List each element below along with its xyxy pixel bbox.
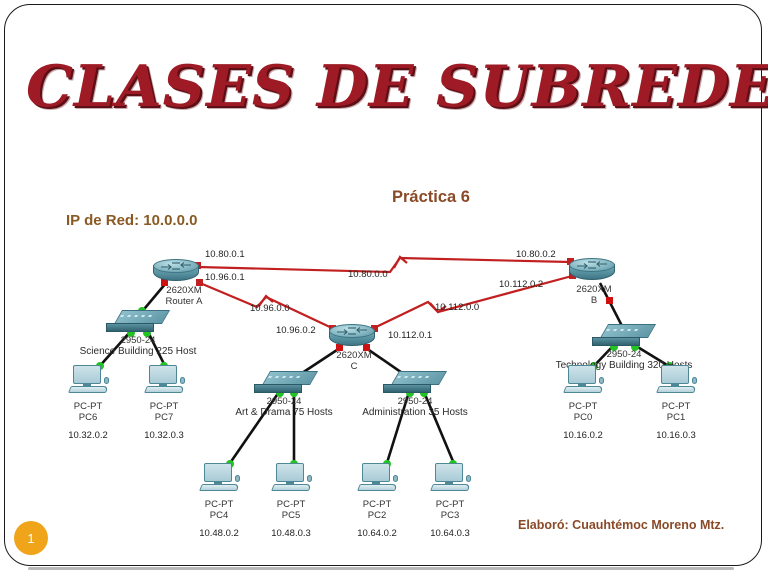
router-arrows-icon	[574, 260, 610, 270]
pc-icon	[563, 365, 603, 399]
switch-technology-model: 2950-24	[607, 349, 642, 360]
pc6-name: PC6	[79, 412, 97, 423]
pc1-name: PC1	[667, 412, 685, 423]
pc0-ip: 10.16.0.2	[563, 430, 603, 441]
pc5-model: PC-PT	[277, 499, 306, 510]
router-b-name: B	[591, 295, 597, 306]
switch-admin-site: Administration 35 Hosts	[362, 407, 468, 418]
pc4-name: PC4	[210, 510, 228, 521]
pc2-ip: 10.64.0.2	[357, 528, 397, 539]
pc0-model: PC-PT	[569, 401, 598, 412]
router-a-model: 2620XM	[166, 285, 201, 296]
pc-icon	[68, 365, 108, 399]
pc-icon	[656, 365, 696, 399]
pc-icon	[199, 463, 239, 497]
router-a-name: Router A	[166, 296, 203, 307]
pc5-name: PC5	[282, 510, 300, 521]
serial-arrow-ab	[394, 257, 407, 268]
switch-science-site: Science Building 225 Host	[80, 346, 197, 357]
switch-admin-model: 2950-24	[398, 396, 433, 407]
pc7-name: PC7	[155, 412, 173, 423]
pc3-ip: 10.64.0.3	[430, 528, 470, 539]
switch-art-site: Art & Drama 75 Hosts	[235, 407, 332, 418]
pc1-model: PC-PT	[662, 401, 691, 412]
switch-art-model: 2950-24	[267, 396, 302, 407]
router-b-model: 2620XM	[576, 284, 611, 295]
interface-label-a-s1: 10.96.0.1	[205, 272, 245, 283]
interface-label-c-s0: 10.96.0.2	[276, 325, 316, 336]
router-icon	[569, 258, 615, 284]
router-arrows-icon	[334, 326, 370, 336]
pc5-ip: 10.48.0.3	[271, 528, 311, 539]
switch-icon	[391, 371, 439, 397]
pc2-model: PC-PT	[363, 499, 392, 510]
switch-icon	[114, 310, 162, 336]
pc-icon	[357, 463, 397, 497]
switch-science-model: 2950-24	[121, 335, 156, 346]
pc3-name: PC3	[441, 510, 459, 521]
pc3-model: PC-PT	[436, 499, 465, 510]
eth-endpoint-down	[606, 297, 613, 304]
router-c-name: C	[351, 361, 358, 372]
interface-label-b-s1: 10.112.0.2	[499, 279, 543, 290]
pc6-ip: 10.32.0.2	[68, 430, 108, 441]
pc7-ip: 10.32.0.3	[144, 430, 184, 441]
pc-icon	[430, 463, 470, 497]
router-icon	[153, 259, 199, 285]
router-c-model: 2620XM	[336, 350, 371, 361]
network-label-80: 10.80.0.0	[348, 269, 388, 280]
pc4-model: PC-PT	[205, 499, 234, 510]
switch-icon	[262, 371, 310, 397]
pc7-model: PC-PT	[150, 401, 179, 412]
pc4-ip: 10.48.0.2	[199, 528, 239, 539]
pc0-name: PC0	[574, 412, 592, 423]
switch-icon	[600, 324, 648, 350]
network-topology-diagram: 2620XM Router A 2620XM C	[0, 0, 768, 576]
router-arrows-icon	[158, 261, 194, 271]
interface-label-a-s0: 10.80.0.1	[205, 249, 245, 260]
interface-label-b-s0: 10.80.0.2	[516, 249, 556, 260]
network-label-96: 10.96.0.0	[250, 303, 290, 314]
slide: CLASES DE SUBREDES Práctica 6 IP de Red:…	[0, 0, 768, 576]
router-icon	[329, 324, 375, 350]
pc6-model: PC-PT	[74, 401, 103, 412]
pc-icon	[144, 365, 184, 399]
network-label-112: 10.112.0.0	[435, 302, 479, 313]
pc-icon	[271, 463, 311, 497]
pc2-name: PC2	[368, 510, 386, 521]
interface-label-c-s1: 10.112.0.1	[388, 330, 432, 341]
pc1-ip: 10.16.0.3	[656, 430, 696, 441]
